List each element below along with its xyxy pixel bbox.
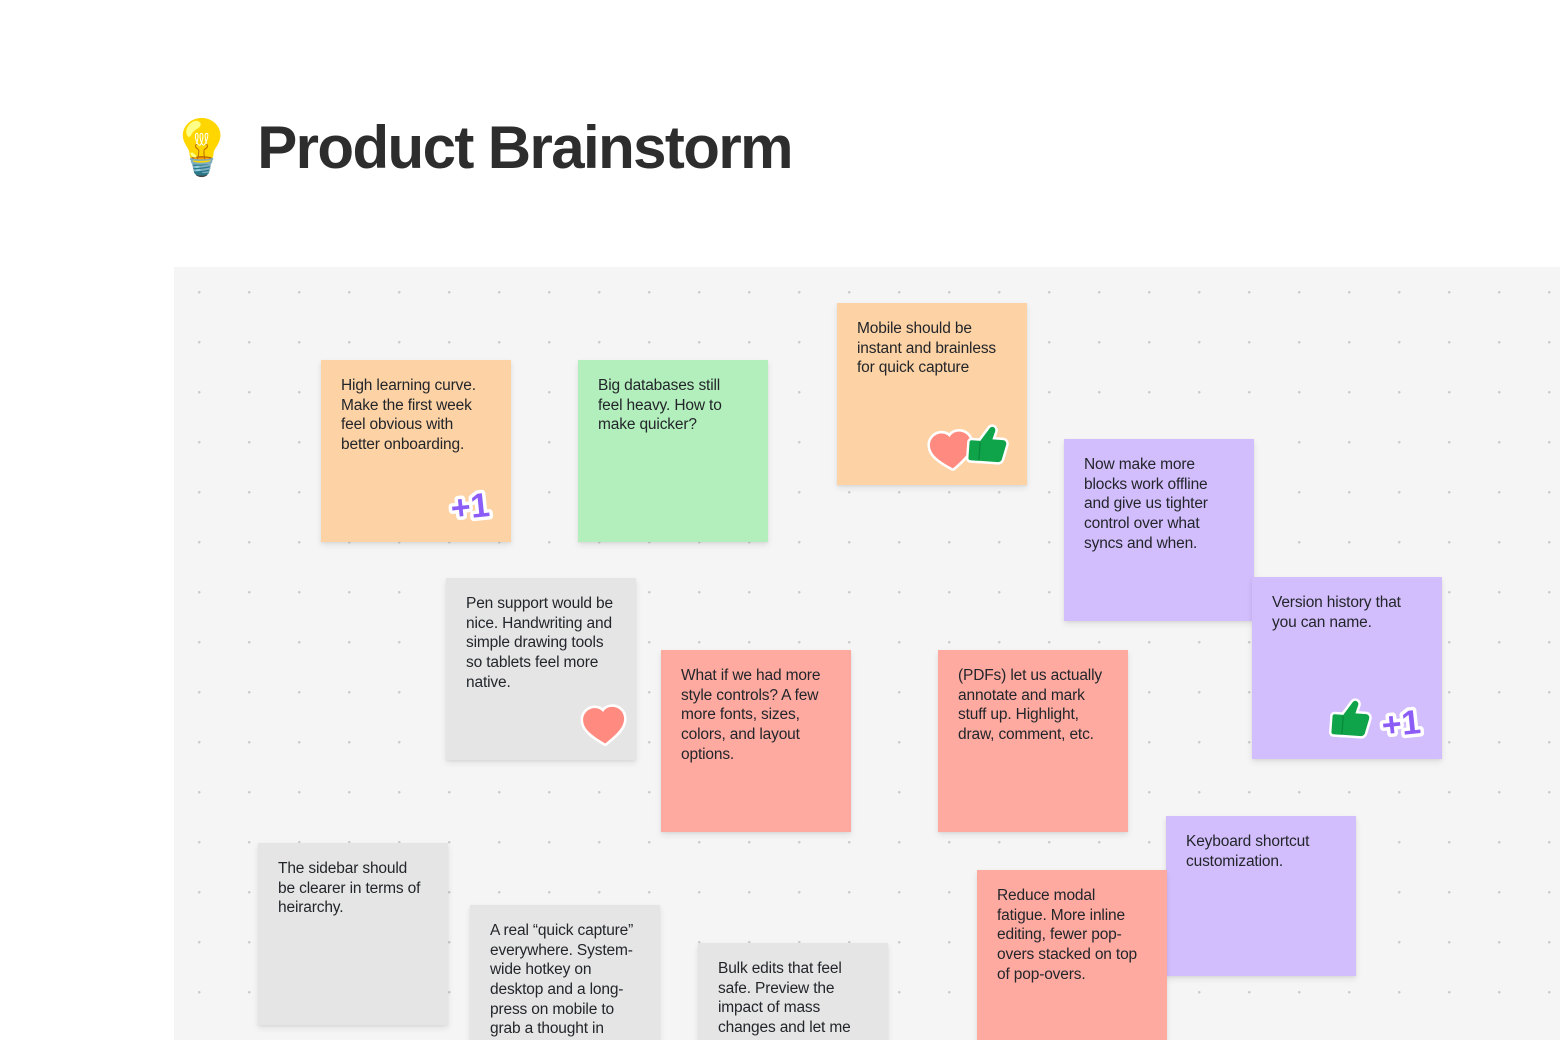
sticky-note-text: (PDFs) let us actually annotate and mark… [958,666,1108,745]
heart-reaction-sticker[interactable] [580,702,629,747]
svg-text:+1: +1 [449,486,492,528]
sticky-note[interactable]: Bulk edits that feel safe. Preview the i… [698,943,888,1040]
reaction-sticker-group: +1+1 [1330,697,1426,745]
sticky-note-text: Reduce modal fatigue. More inline editin… [997,886,1147,984]
heart-sticker-svg [926,427,976,474]
plus-one-sticker-svg: +1+1 [1374,699,1428,748]
sticky-note[interactable]: Big databases still feel heavy. How to m… [578,360,768,542]
sticky-note[interactable]: High learning curve. Make the first week… [321,360,511,542]
reaction-sticker-group [581,704,620,746]
sticky-note-text: Keyboard shortcut customization. [1186,832,1336,871]
thumbs-up-sticker-svg [1329,696,1376,743]
sticky-note-text: Bulk edits that feel safe. Preview the i… [718,959,868,1040]
reaction-sticker-group: +1+1 [443,484,495,528]
lightbulb-icon: 💡 [168,121,235,175]
sticky-note-text: Mobile should be instant and brainless f… [857,319,1007,378]
sticky-note-text: Now make more blocks work offline and gi… [1084,455,1234,553]
svg-text:+1: +1 [449,486,492,528]
sticky-note[interactable]: Version history that you can name.+1+1 [1252,577,1442,759]
heart-reaction-sticker[interactable] [926,427,976,474]
thumbs-up-reaction-sticker[interactable] [966,422,1013,469]
sticky-note-text: High learning curve. Make the first week… [341,376,491,455]
sticky-note[interactable]: Now make more blocks work offline and gi… [1064,439,1254,621]
sticky-note-text: Version history that you can name. [1272,593,1422,632]
sticky-note[interactable]: Mobile should be instant and brainless f… [837,303,1027,485]
svg-text:+1: +1 [1380,703,1423,745]
heart-sticker-svg [580,702,629,747]
sticky-note[interactable]: Reduce modal fatigue. More inline editin… [977,870,1167,1040]
plus-one-reaction-sticker[interactable]: +1+1 [443,482,497,531]
sticky-note-text: Pen support would be nice. Handwriting a… [466,594,616,692]
plus-one-reaction-sticker[interactable]: +1+1 [1374,699,1428,748]
sticky-note[interactable]: What if we had more style controls? A fe… [661,650,851,832]
sticky-note[interactable]: Pen support would be nice. Handwriting a… [446,578,636,760]
sticky-note-text: What if we had more style controls? A fe… [681,666,831,764]
plus-one-sticker-svg: +1+1 [443,482,497,531]
sticky-note[interactable]: A real “quick capture” everywhere. Syste… [470,905,660,1040]
reaction-sticker-group [928,423,1011,471]
thumbs-up-reaction-sticker[interactable] [1329,696,1376,743]
sticky-note[interactable]: Keyboard shortcut customization. [1166,816,1356,976]
sticky-note-text: A real “quick capture” everywhere. Syste… [490,921,640,1040]
sticky-note-text: The sidebar should be clearer in terms o… [278,859,428,918]
sticky-note-text: Big databases still feel heavy. How to m… [598,376,748,435]
sticky-note[interactable]: The sidebar should be clearer in terms o… [258,843,448,1025]
sticky-note[interactable]: (PDFs) let us actually annotate and mark… [938,650,1128,832]
page-header: 💡 Product Brainstorm [168,104,792,192]
svg-text:+1: +1 [1380,703,1423,745]
page-title: Product Brainstorm [257,118,792,178]
whiteboard-canvas[interactable]: High learning curve. Make the first week… [174,267,1560,1040]
thumbs-up-sticker-svg [966,422,1013,469]
